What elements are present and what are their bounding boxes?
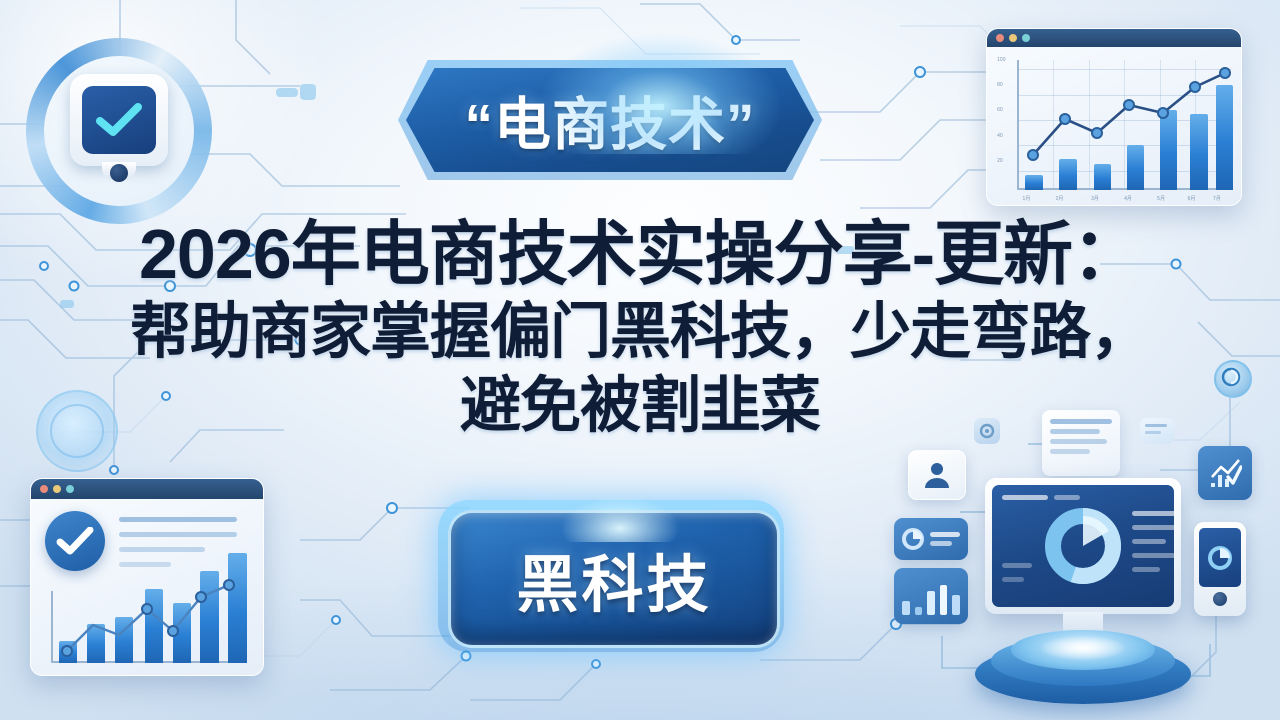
headline-block: 2026年电商技术实操分享-更新： 帮助商家掌握偏门黑科技，少走弯路， 避免被割… (0, 214, 1280, 442)
x-tick: 5月 (1157, 195, 1165, 202)
pie-stat-card (894, 518, 968, 560)
window-titlebar[interactable] (31, 479, 263, 499)
maximize-dot-icon[interactable] (1022, 34, 1030, 42)
glow-pedestal (975, 630, 1191, 704)
chart-area-topright: 100 80 60 40 20 1月 2月 3月 4月 (987, 47, 1241, 205)
user-icon (922, 460, 952, 490)
phone-chart-icon (1205, 543, 1235, 573)
x-tick: 7月 (1213, 195, 1221, 202)
x-tick: 3月 (1091, 195, 1099, 202)
phone-home-button[interactable] (1213, 592, 1227, 606)
chart-window-bottomleft[interactable] (30, 478, 264, 676)
maximize-dot-icon[interactable] (66, 485, 74, 493)
poster-canvas: 100 80 60 40 20 1月 2月 3月 4月 (0, 0, 1280, 720)
donut-chart-icon (1040, 503, 1126, 589)
hex-badge-label: “电商技术” (465, 79, 756, 161)
headline-line-2: 帮助商家掌握偏门黑科技，少走弯路， (0, 294, 1280, 368)
x-tick: 6月 (1188, 195, 1196, 202)
x-tick: 2月 (1056, 195, 1064, 202)
pie-chart-icon (902, 528, 924, 550)
minimize-dot-icon[interactable] (53, 485, 61, 493)
headline-line-1: 2026年电商技术实操分享-更新： (0, 214, 1280, 294)
monitor-icon (985, 478, 1181, 614)
top-left-tech-badge (26, 38, 212, 224)
bar-stat-card (894, 568, 968, 624)
chart-window-topright[interactable]: 100 80 60 40 20 1月 2月 3月 4月 (986, 28, 1242, 206)
plaque-spark-icon (560, 496, 680, 542)
window-titlebar[interactable] (987, 29, 1241, 47)
user-avatar-card (908, 450, 966, 500)
headline-line-3: 避免被割韭菜 (0, 368, 1280, 442)
close-dot-icon[interactable] (996, 34, 1004, 42)
device-icon (70, 74, 168, 166)
phone-screen (1199, 528, 1241, 587)
smartphone-icon (1194, 522, 1246, 616)
x-tick: 1月 (1023, 195, 1031, 202)
hex-badge[interactable]: “电商技术” (406, 68, 814, 172)
close-dot-icon[interactable] (40, 485, 48, 493)
plaque-label: 黑科技 (516, 534, 711, 624)
check-icon (96, 103, 142, 137)
device-screen (82, 86, 156, 154)
check-chart-icon (1208, 457, 1242, 489)
minimize-dot-icon[interactable] (1009, 34, 1017, 42)
check-chart-card (1198, 446, 1252, 500)
monitor-screen (992, 485, 1174, 607)
trend-line (987, 47, 1241, 205)
x-tick: 4月 (1124, 195, 1132, 202)
device-button (110, 164, 128, 182)
card-body-bottomleft (31, 499, 263, 675)
